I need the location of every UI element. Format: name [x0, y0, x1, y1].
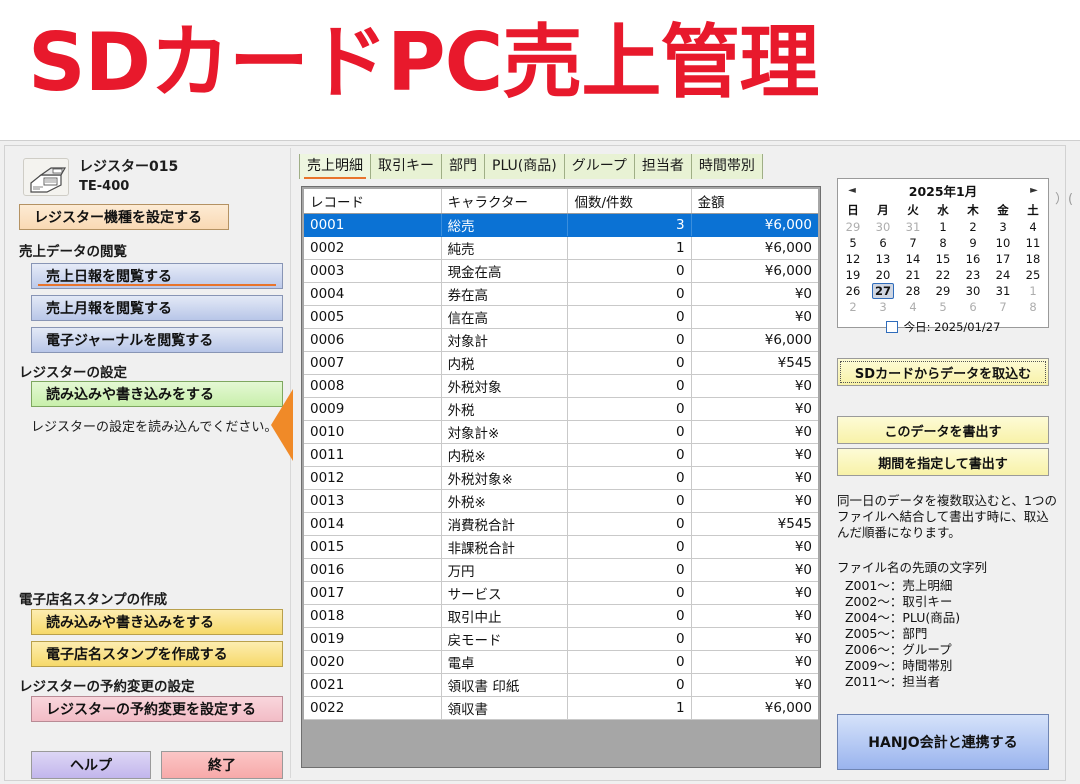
calendar-day[interactable]: 28: [898, 283, 928, 299]
calendar-day[interactable]: 2: [958, 219, 988, 235]
sales-detail-table: レコードキャラクター個数/件数金額 0001総売3¥6,0000002純売1¥6…: [304, 189, 818, 720]
calendar-day[interactable]: 12: [838, 251, 868, 267]
cell-count: 0: [568, 582, 691, 605]
cell-character: 外税※: [441, 490, 568, 513]
cell-character: 純売: [441, 237, 568, 260]
calendar-day[interactable]: 26: [838, 283, 868, 299]
set-reserve-change-button[interactable]: レジスターの予約変更を設定する: [31, 696, 283, 722]
weekday-6: 土: [1018, 201, 1048, 219]
calendar-day[interactable]: 4: [898, 299, 928, 315]
calendar-week-row: 2930311234: [838, 219, 1048, 235]
tab-2[interactable]: 部門: [442, 154, 485, 179]
cell-amount: ¥545: [691, 352, 818, 375]
chevron-right-icon[interactable]: ►: [1025, 181, 1043, 199]
table-row[interactable]: 0017サービス0¥0: [304, 582, 818, 605]
section-label-register-settings: レジスターの設定: [19, 361, 127, 381]
cell-character: サービス: [441, 582, 568, 605]
calendar-day[interactable]: 18: [1018, 251, 1048, 267]
register-model: TE-400: [79, 177, 178, 196]
cell-record: 0010: [304, 421, 441, 444]
cell-amount: ¥0: [691, 490, 818, 513]
selection-arrow-icon: [271, 389, 293, 461]
cell-amount: ¥0: [691, 306, 818, 329]
cell-character: 対象計: [441, 329, 568, 352]
cell-character: 券在高: [441, 283, 568, 306]
date-picker-calendar[interactable]: ◄ 2025年1月 ► 日月火水木金土 29303112345678910111…: [837, 178, 1049, 328]
table-row[interactable]: 0005信在高0¥0: [304, 306, 818, 329]
cell-amount: ¥6,000: [691, 214, 818, 237]
table-row[interactable]: 0003現金在高0¥6,000: [304, 260, 818, 283]
export-this-data-button[interactable]: このデータを書出す: [837, 416, 1049, 444]
weekday-0: 日: [838, 201, 868, 219]
cell-character: 外税対象※: [441, 467, 568, 490]
table-row[interactable]: 0009外税0¥0: [304, 398, 818, 421]
table-row[interactable]: 0001総売3¥6,000: [304, 214, 818, 237]
calendar-day[interactable]: 30: [958, 283, 988, 299]
cell-character: 万円: [441, 559, 568, 582]
weekday-4: 木: [958, 201, 988, 219]
column-header-0[interactable]: レコード: [304, 189, 441, 214]
cell-count: 0: [568, 605, 691, 628]
calendar-week-row: 2345678: [838, 299, 1048, 315]
calendar-day[interactable]: 30: [868, 219, 898, 235]
calendar-day[interactable]: 17: [988, 251, 1018, 267]
hanjo-link-button[interactable]: HANJO会計と連携する: [837, 714, 1049, 770]
calendar-day[interactable]: 23: [958, 267, 988, 283]
data-grid-container[interactable]: レコードキャラクター個数/件数金額 0001総売3¥6,0000002純売1¥6…: [301, 186, 821, 768]
cell-amount: ¥545: [691, 513, 818, 536]
cell-count: 0: [568, 352, 691, 375]
banner: SDカードPC売上管理: [0, 0, 1080, 140]
cell-record: 0012: [304, 467, 441, 490]
cell-amount: ¥0: [691, 582, 818, 605]
cell-count: 0: [568, 513, 691, 536]
calendar-day[interactable]: 2: [838, 299, 868, 315]
calendar-header: ◄ 2025年1月 ►: [838, 179, 1048, 201]
cell-amount: ¥0: [691, 444, 818, 467]
table-row[interactable]: 0015非課税合計0¥0: [304, 536, 818, 559]
cell-character: 外税対象: [441, 375, 568, 398]
register-name: レジスター015: [79, 158, 178, 177]
cell-record: 0005: [304, 306, 441, 329]
table-row[interactable]: 0006対象計0¥6,000: [304, 329, 818, 352]
exit-button[interactable]: 終了: [161, 751, 283, 779]
calendar-weekday-row: 日月火水木金土: [838, 201, 1048, 219]
tab-6[interactable]: 時間帯別: [692, 154, 763, 179]
calendar-week-row: 2627282930311: [838, 283, 1048, 299]
cell-character: 領収書: [441, 697, 568, 720]
cell-character: 現金在高: [441, 260, 568, 283]
table-row[interactable]: 0014消費税合計0¥545: [304, 513, 818, 536]
column-header-3[interactable]: 金額: [691, 189, 818, 214]
filename-prefix-title: ファイル名の先頭の文字列: [837, 560, 1057, 576]
cell-amount: ¥0: [691, 605, 818, 628]
app-root: SDカードPC売上管理: [0, 0, 1080, 784]
cell-amount: ¥0: [691, 536, 818, 559]
today-label: 今日: 2025/01/27: [904, 319, 1001, 335]
cell-amount: ¥0: [691, 467, 818, 490]
register-read-write-button[interactable]: 読み込みや書き込みをする: [31, 381, 283, 407]
cell-count: 1: [568, 237, 691, 260]
calendar-title: 2025年1月: [909, 181, 978, 200]
cell-character: 外税: [441, 398, 568, 421]
table-row[interactable]: 0008外税対象0¥0: [304, 375, 818, 398]
calendar-day[interactable]: 3: [868, 299, 898, 315]
column-header-1[interactable]: キャラクター: [441, 189, 568, 214]
cell-character: 信在高: [441, 306, 568, 329]
app-window: レジスター015 TE-400 レジスター機種を設定する 売上データの閲覧 売上…: [0, 140, 1080, 784]
calendar-day[interactable]: 10: [988, 235, 1018, 251]
table-row[interactable]: 0012外税対象※0¥0: [304, 467, 818, 490]
cell-record: 0006: [304, 329, 441, 352]
today-checkbox[interactable]: [886, 321, 898, 333]
cell-character: 消費税合計: [441, 513, 568, 536]
clipped-background-text: ）(: [1055, 188, 1079, 226]
main-panel: 売上明細取引キー部門PLU(商品)グループ担当者時間帯別 レコードキャラクター個…: [293, 148, 827, 778]
data-grid[interactable]: レコードキャラクター個数/件数金額 0001総売3¥6,0000002純売1¥6…: [304, 189, 818, 765]
cell-amount: ¥0: [691, 375, 818, 398]
table-row[interactable]: 0022領収書1¥6,000: [304, 697, 818, 720]
cell-count: 0: [568, 260, 691, 283]
set-register-model-button[interactable]: レジスター機種を設定する: [19, 204, 229, 230]
import-note-paragraph: 同一日のデータを複数取込むと、1つのファイルへ結合して書出す時に、取込んだ順番に…: [837, 493, 1057, 541]
table-row[interactable]: 0002純売1¥6,000: [304, 237, 818, 260]
section-label-sales-view: 売上データの閲覧: [19, 240, 127, 260]
cell-record: 0011: [304, 444, 441, 467]
cell-count: 0: [568, 283, 691, 306]
help-button[interactable]: ヘルプ: [31, 751, 151, 779]
section-label-reserve: レジスターの予約変更の設定: [19, 675, 195, 695]
calendar-day-selected[interactable]: 27: [868, 283, 898, 299]
table-row[interactable]: 0007内税0¥545: [304, 352, 818, 375]
calendar-day[interactable]: 8: [1018, 299, 1048, 315]
cell-count: 0: [568, 329, 691, 352]
cell-amount: ¥0: [691, 559, 818, 582]
cell-record: 0002: [304, 237, 441, 260]
register-settings-note: レジスターの設定を読み込んでください。: [31, 416, 277, 435]
cell-record: 0015: [304, 536, 441, 559]
import-from-sd-card-button[interactable]: SDカードからデータを取込む: [837, 358, 1049, 386]
cell-record: 0017: [304, 582, 441, 605]
calendar-week-row: 19202122232425: [838, 267, 1048, 283]
calendar-day[interactable]: 19: [838, 267, 868, 283]
calendar-day[interactable]: 31: [898, 219, 928, 235]
cell-character: 内税※: [441, 444, 568, 467]
calendar-day[interactable]: 22: [928, 267, 958, 283]
tab-5[interactable]: 担当者: [635, 154, 692, 179]
table-row[interactable]: 0016万円0¥0: [304, 559, 818, 582]
cell-record: 0004: [304, 283, 441, 306]
cell-amount: ¥0: [691, 398, 818, 421]
cell-record: 0022: [304, 697, 441, 720]
calendar-day[interactable]: 16: [958, 251, 988, 267]
cell-count: 0: [568, 398, 691, 421]
calendar-day[interactable]: 4: [1018, 219, 1048, 235]
weekday-1: 月: [868, 201, 898, 219]
cell-count: 0: [568, 375, 691, 398]
cell-count: 0: [568, 674, 691, 697]
cell-amount: ¥0: [691, 421, 818, 444]
cell-record: 0008: [304, 375, 441, 398]
cell-character: 対象計※: [441, 421, 568, 444]
filename-prefix-list: Z001～：売上明細 Z002～：取引キー Z004～：PLU(商品) Z005…: [837, 578, 1057, 690]
table-row[interactable]: 0013外税※0¥0: [304, 490, 818, 513]
tab-0[interactable]: 売上明細: [299, 154, 371, 179]
cell-count: 0: [568, 490, 691, 513]
app-title: SDカードPC売上管理: [28, 18, 818, 108]
view-daily-report-button[interactable]: 売上日報を閲覧する: [31, 263, 283, 289]
cell-character: 非課税合計: [441, 536, 568, 559]
table-header-row: レコードキャラクター個数/件数金額: [304, 189, 818, 214]
cell-amount: ¥6,000: [691, 260, 818, 283]
calendar-days[interactable]: 2930311234567891011121314151617181920212…: [838, 219, 1048, 315]
cell-record: 0020: [304, 651, 441, 674]
calendar-day[interactable]: 3: [988, 219, 1018, 235]
cell-count: 3: [568, 214, 691, 237]
view-electronic-journal-button[interactable]: 電子ジャーナルを閲覧する: [31, 327, 283, 353]
cell-record: 0013: [304, 490, 441, 513]
table-row[interactable]: 0004券在高0¥0: [304, 283, 818, 306]
cell-character: 内税: [441, 352, 568, 375]
cell-record: 0014: [304, 513, 441, 536]
tab-1[interactable]: 取引キー: [371, 154, 442, 179]
calendar-day[interactable]: 6: [958, 299, 988, 315]
cell-character: 電卓: [441, 651, 568, 674]
sidebar: レジスター015 TE-400 レジスター機種を設定する 売上データの閲覧 売上…: [9, 148, 291, 778]
calendar-day[interactable]: 5: [928, 299, 958, 315]
table-body: 0001総売3¥6,0000002純売1¥6,0000003現金在高0¥6,00…: [304, 214, 818, 720]
cell-character: 取引中止: [441, 605, 568, 628]
table-row[interactable]: 0018取引中止0¥0: [304, 605, 818, 628]
cell-count: 0: [568, 421, 691, 444]
calendar-day[interactable]: 7: [988, 299, 1018, 315]
calendar-day[interactable]: 20: [868, 267, 898, 283]
calendar-footer[interactable]: 今日: 2025/01/27: [838, 317, 1048, 337]
calendar-day[interactable]: 1: [1018, 283, 1048, 299]
cell-amount: ¥0: [691, 674, 818, 697]
calendar-day[interactable]: 7: [898, 235, 928, 251]
cell-amount: ¥0: [691, 651, 818, 674]
cell-amount: ¥6,000: [691, 329, 818, 352]
calendar-day[interactable]: 25: [1018, 267, 1048, 283]
cell-character: 総売: [441, 214, 568, 237]
cell-record: 0019: [304, 628, 441, 651]
calendar-week-row: 12131415161718: [838, 251, 1048, 267]
calendar-day[interactable]: 21: [898, 267, 928, 283]
cell-count: 0: [568, 559, 691, 582]
table-row[interactable]: 0011内税※0¥0: [304, 444, 818, 467]
cell-count: 0: [568, 467, 691, 490]
tab-3[interactable]: PLU(商品): [485, 154, 565, 179]
calendar-day[interactable]: 29: [838, 219, 868, 235]
calendar-day[interactable]: 29: [928, 283, 958, 299]
cell-record: 0021: [304, 674, 441, 697]
cell-count: 0: [568, 444, 691, 467]
cell-amount: ¥6,000: [691, 697, 818, 720]
tab-4[interactable]: グループ: [565, 154, 635, 179]
cell-record: 0016: [304, 559, 441, 582]
stamp-read-write-button[interactable]: 読み込みや書き込みをする: [31, 609, 283, 635]
calendar-day[interactable]: 24: [988, 267, 1018, 283]
calendar-day[interactable]: 9: [958, 235, 988, 251]
create-stamp-button[interactable]: 電子店名スタンプを作成する: [31, 641, 283, 667]
cell-count: 0: [568, 306, 691, 329]
calendar-week-row: 567891011: [838, 235, 1048, 251]
cell-record: 0003: [304, 260, 441, 283]
cell-character: 戻モード: [441, 628, 568, 651]
calendar-day[interactable]: 11: [1018, 235, 1048, 251]
calendar-day[interactable]: 1: [928, 219, 958, 235]
cell-amount: ¥6,000: [691, 237, 818, 260]
table-row[interactable]: 0010対象計※0¥0: [304, 421, 818, 444]
table-row[interactable]: 0020電卓0¥0: [304, 651, 818, 674]
export-by-period-button[interactable]: 期間を指定して書出す: [837, 448, 1049, 476]
calendar-day[interactable]: 15: [928, 251, 958, 267]
right-panel: ◄ 2025年1月 ► 日月火水木金土 29303112345678910111…: [829, 148, 1065, 778]
chevron-left-icon[interactable]: ◄: [843, 181, 861, 199]
cell-count: 0: [568, 651, 691, 674]
weekday-3: 水: [928, 201, 958, 219]
cell-record: 0009: [304, 398, 441, 421]
cell-count: 1: [568, 697, 691, 720]
weekday-5: 金: [988, 201, 1018, 219]
cell-record: 0018: [304, 605, 441, 628]
calendar-day[interactable]: 5: [838, 235, 868, 251]
cell-count: 0: [568, 536, 691, 559]
cash-register-icon: [23, 158, 69, 196]
table-row[interactable]: 0021領収書 印紙0¥0: [304, 674, 818, 697]
view-monthly-report-button[interactable]: 売上月報を閲覧する: [31, 295, 283, 321]
calendar-grid[interactable]: 日月火水木金土 29303112345678910111213141516171…: [838, 201, 1048, 315]
tab-bar: 売上明細取引キー部門PLU(商品)グループ担当者時間帯別: [299, 154, 763, 179]
cell-record: 0001: [304, 214, 441, 237]
calendar-day-label: 27: [872, 283, 894, 299]
cell-character: 領収書 印紙: [441, 674, 568, 697]
calendar-day[interactable]: 31: [988, 283, 1018, 299]
calendar-day[interactable]: 6: [868, 235, 898, 251]
calendar-day[interactable]: 13: [868, 251, 898, 267]
weekday-2: 火: [898, 201, 928, 219]
cell-record: 0007: [304, 352, 441, 375]
table-row[interactable]: 0019戻モード0¥0: [304, 628, 818, 651]
register-header: レジスター015 TE-400: [23, 158, 178, 196]
calendar-day[interactable]: 14: [898, 251, 928, 267]
calendar-day[interactable]: 8: [928, 235, 958, 251]
cell-amount: ¥0: [691, 283, 818, 306]
column-header-2[interactable]: 個数/件数: [568, 189, 691, 214]
app-window-inner: レジスター015 TE-400 レジスター機種を設定する 売上データの閲覧 売上…: [4, 145, 1066, 781]
section-label-stamp: 電子店名スタンプの作成: [19, 588, 167, 608]
cell-amount: ¥0: [691, 628, 818, 651]
cell-count: 0: [568, 628, 691, 651]
